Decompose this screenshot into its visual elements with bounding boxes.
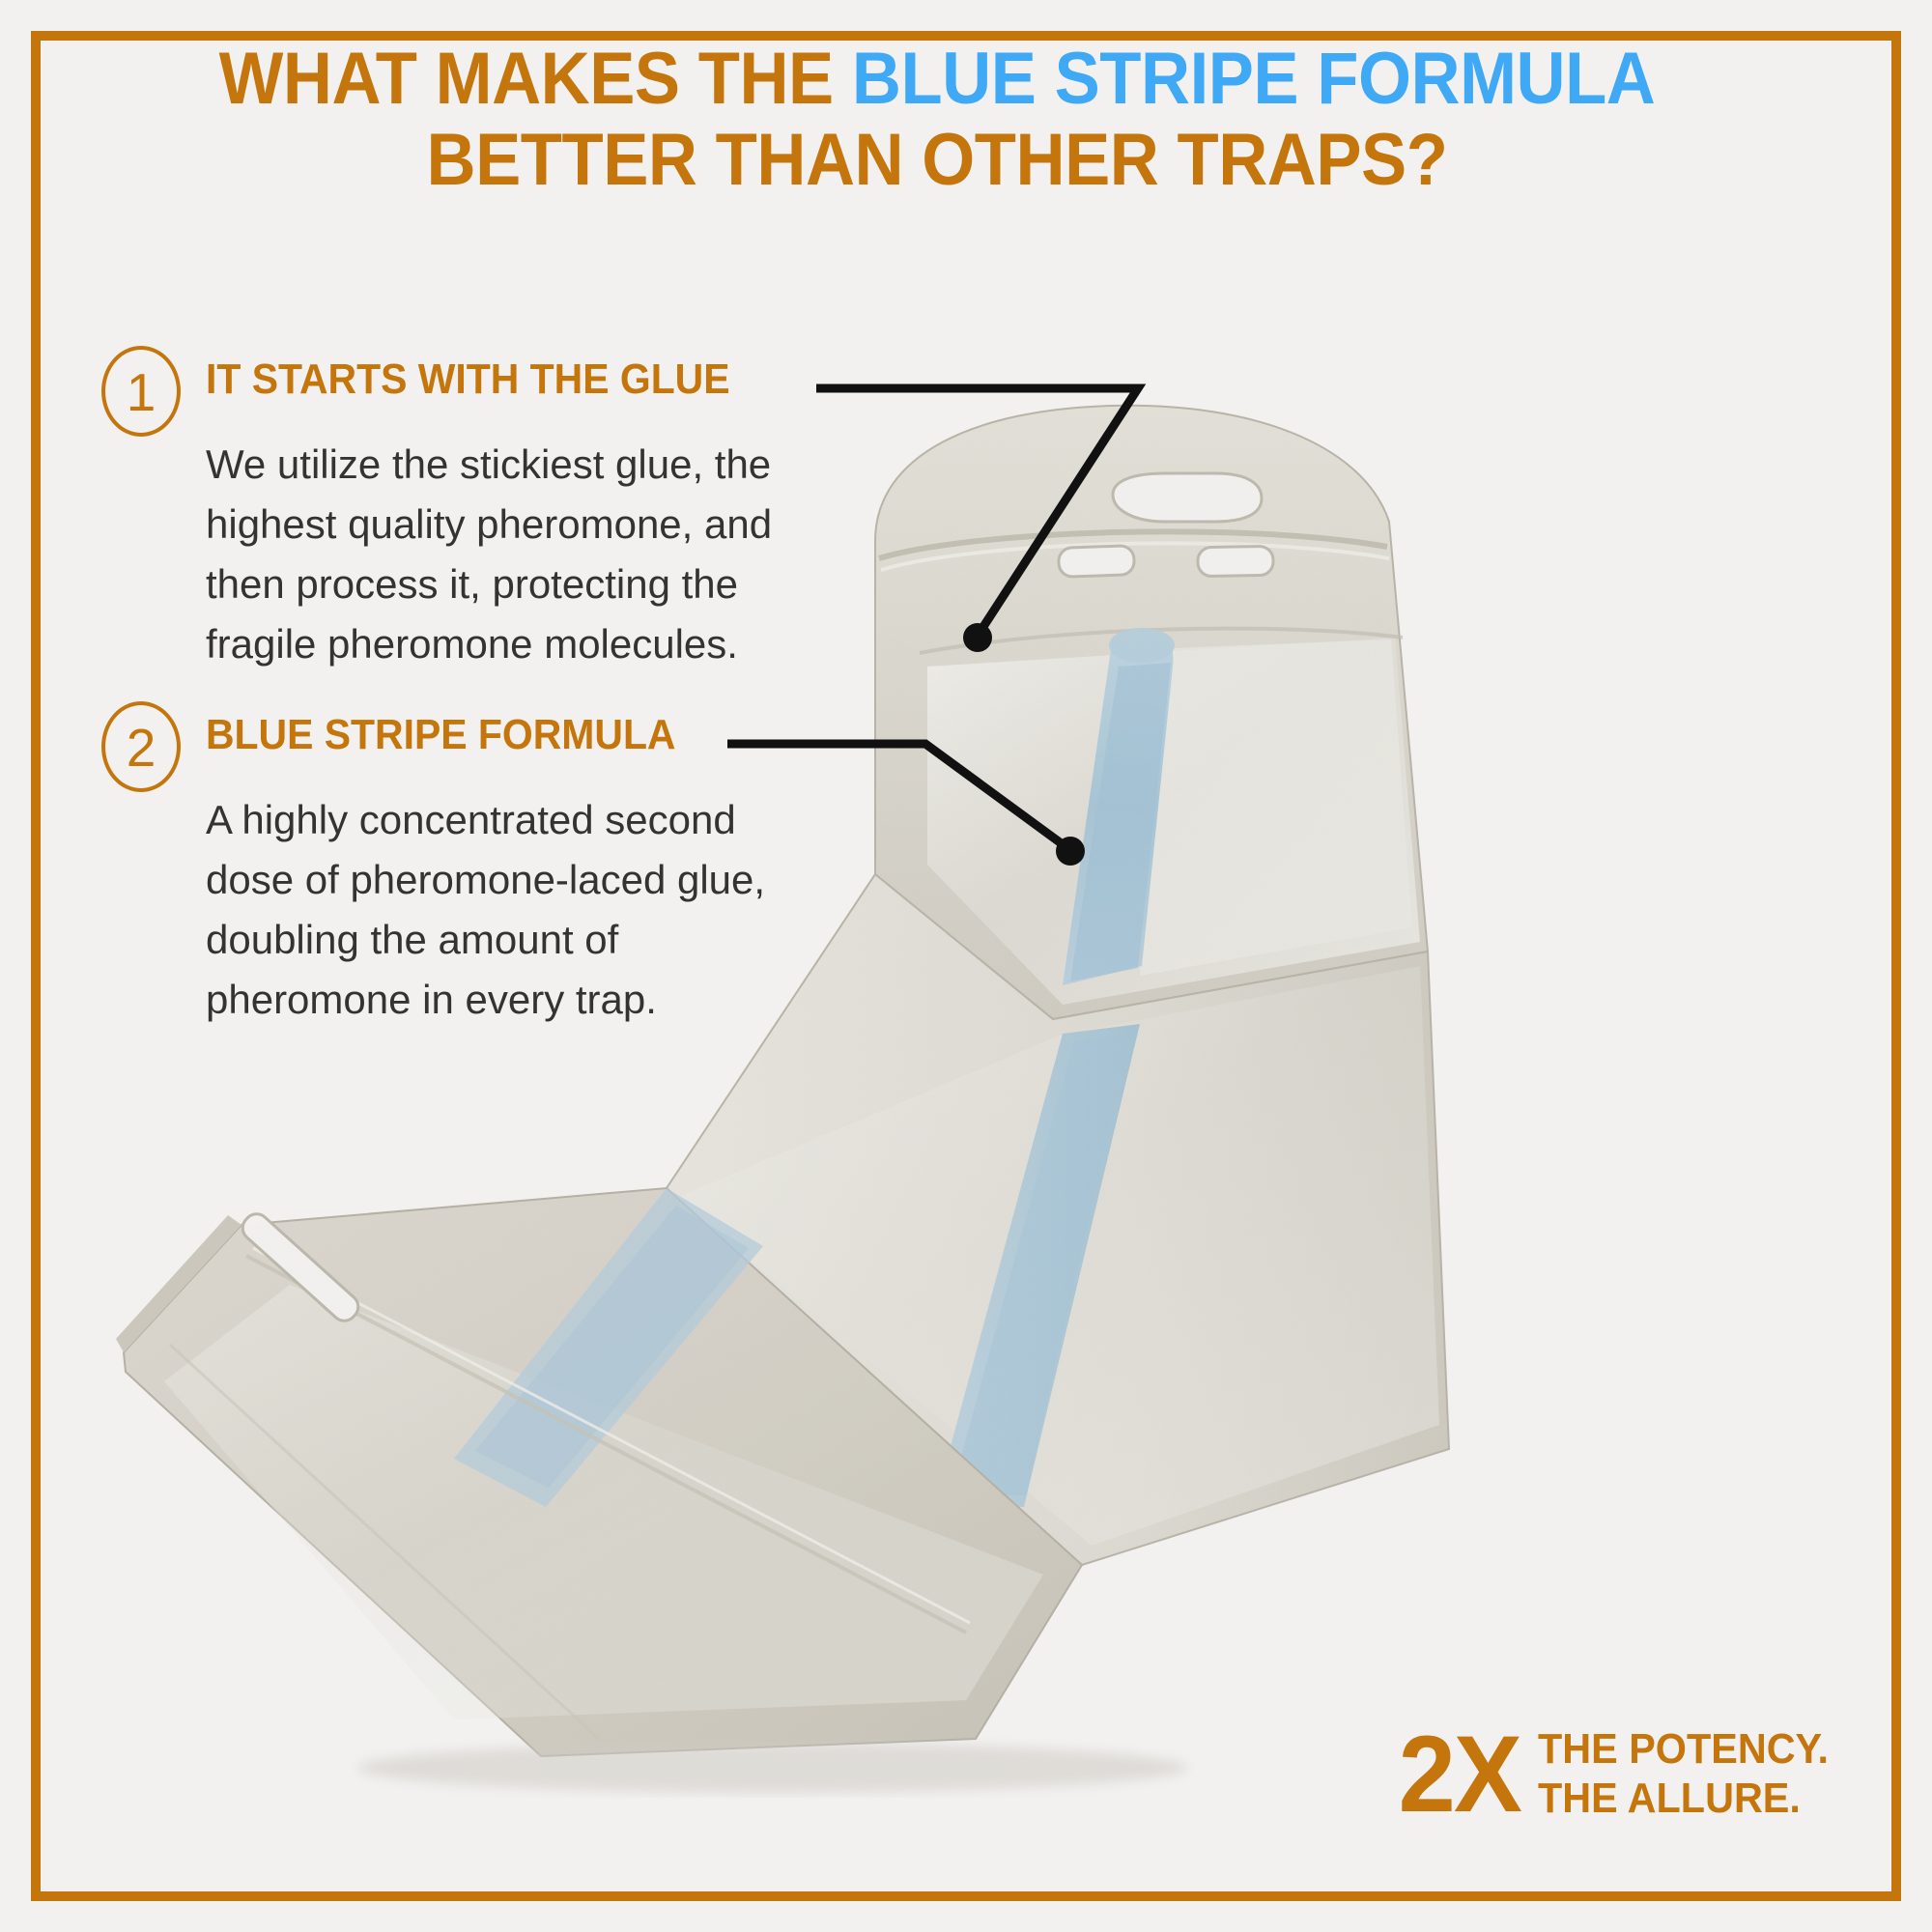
- page-title: WHAT MAKES THE BLUE STRIPE FORMULA BETTE…: [128, 39, 1746, 200]
- potency-badge: 2X THE POTENCY. THE ALLURE.: [1392, 1724, 1847, 1824]
- badge-lines: THE POTENCY. THE ALLURE.: [1538, 1724, 1829, 1823]
- item-1-heading: IT STARTS WITH THE GLUE: [206, 355, 730, 404]
- title-line2: BETTER THAN OTHER TRAPS?: [128, 120, 1746, 201]
- badge-multiplier: 2X: [1398, 1724, 1520, 1824]
- title-line1-part1: WHAT MAKES THE: [219, 38, 852, 120]
- item-2-number-badge: 2: [101, 701, 181, 792]
- item-2-heading: BLUE STRIPE FORMULA: [206, 711, 675, 759]
- badge-line-1: THE POTENCY.: [1538, 1724, 1829, 1774]
- badge-line-2: THE ALLURE.: [1538, 1774, 1829, 1823]
- item-1-number-badge: 1: [101, 346, 181, 437]
- item-1-body: We utilize the stickiest glue, the highe…: [206, 435, 795, 674]
- title-highlight: BLUE STRIPE FORMULA: [852, 38, 1655, 120]
- item-2-body: A highly concentrated second dose of phe…: [206, 790, 795, 1030]
